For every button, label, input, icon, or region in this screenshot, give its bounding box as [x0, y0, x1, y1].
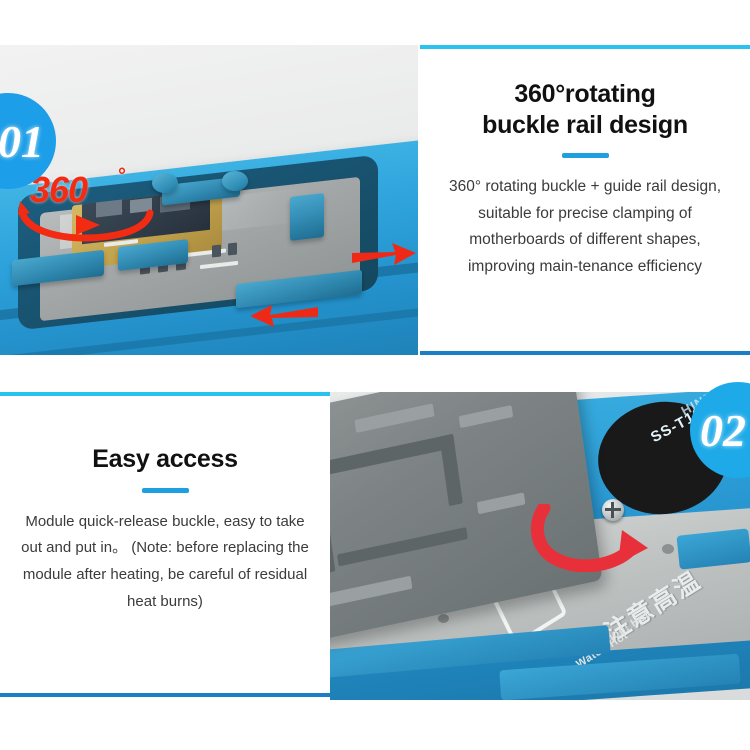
rail-knob-right — [222, 171, 248, 191]
module-ridge — [330, 576, 412, 609]
plate-hole — [438, 614, 449, 623]
module-cutout — [330, 434, 455, 479]
feature-two-heading: Easy access — [16, 444, 314, 475]
module-cutout — [439, 434, 462, 506]
rotation-arrow — [16, 193, 156, 245]
module-ridge — [459, 405, 513, 428]
module-ridge — [354, 403, 434, 433]
screw-rotate-arrow — [530, 504, 650, 572]
feature-section-one: 360 ° 360°rotating buckle rail design 36… — [0, 45, 750, 355]
feature-one-heading-line2: buckle rail design — [482, 111, 688, 139]
degree-symbol: ° — [118, 165, 126, 188]
slide-left-arrow — [248, 297, 318, 331]
heading-divider — [562, 153, 609, 158]
pcb-clip — [212, 244, 221, 257]
module-cutout — [330, 462, 335, 574]
module-ridge — [477, 492, 526, 514]
feature-two-body: Module quick-release buckle, easy to tak… — [16, 509, 314, 616]
infographic-page: 360 ° 360°rotating buckle rail design 36… — [0, 0, 750, 750]
feature-one-heading: 360°rotating buckle rail design — [442, 79, 728, 140]
buckle-clamp-right — [290, 193, 324, 241]
blue-side-rail — [676, 528, 750, 569]
feature-one-body: 360° rotating buckle + guide rail design… — [442, 174, 728, 281]
feature-section-two: Easy access Module quick-release buckle,… — [0, 392, 750, 700]
product-photo-rotating-buckle: 360 ° — [0, 45, 418, 355]
rail-knob-left — [152, 173, 178, 193]
slide-right-arrow — [352, 241, 418, 275]
pcb-clip — [228, 242, 237, 255]
product-photo-easy-access: 注意高温 Caution! Hot Watch Hot A15/A16 lus — [330, 392, 750, 700]
module-cutout — [337, 527, 468, 566]
heading-divider — [142, 488, 189, 493]
feature-card-one: 360°rotating buckle rail design 360° rot… — [420, 45, 750, 355]
feature-card-two: Easy access Module quick-release buckle,… — [0, 392, 330, 697]
plate-hole — [662, 544, 674, 554]
feature-one-heading-line1: 360°rotating — [514, 80, 655, 108]
